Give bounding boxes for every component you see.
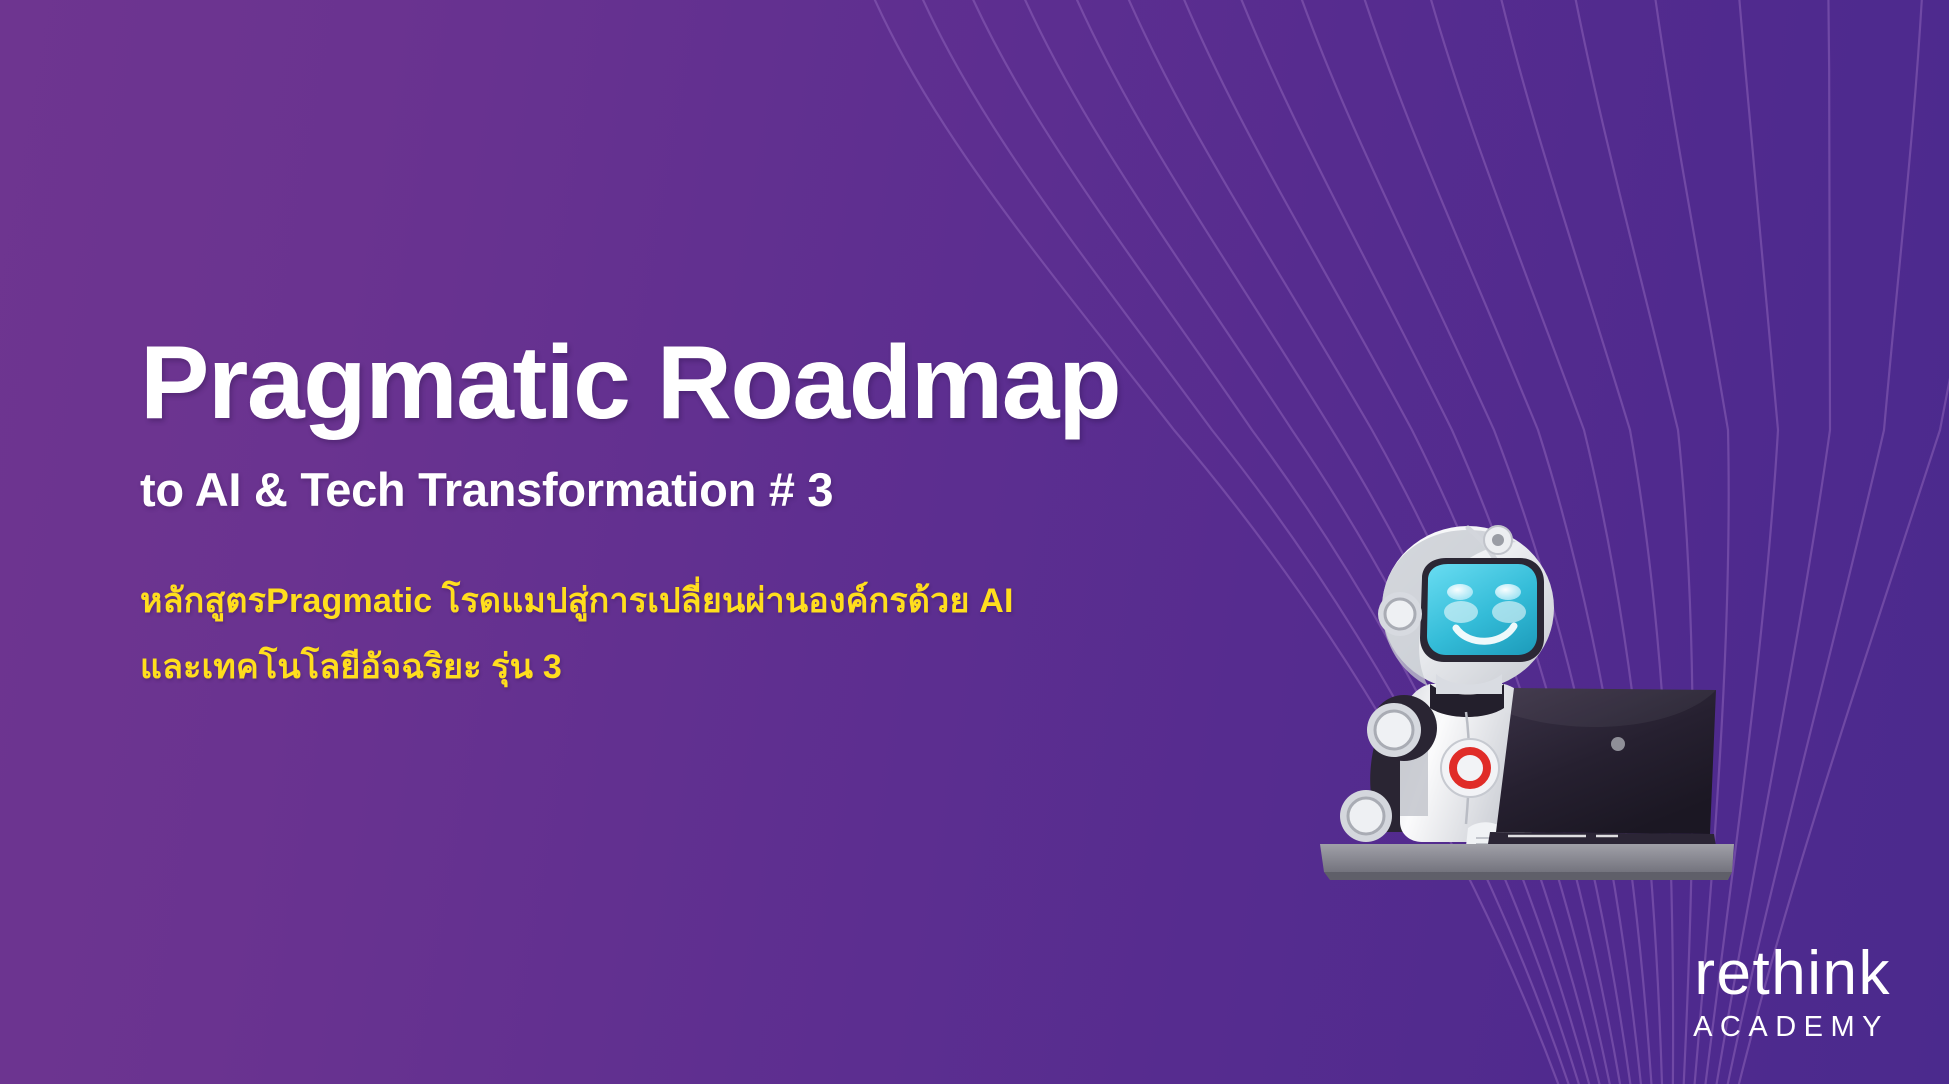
thai-description-block: หลักสูตรPragmatic โรดแมปสู่การเปลี่ยนผ่า… <box>140 568 1200 701</box>
headline-block: Pragmatic Roadmap to AI & Tech Transform… <box>140 330 1200 700</box>
logo-tagline: ACADEMY <box>1693 1013 1891 1042</box>
robot-mascot-illustration <box>1318 516 1738 896</box>
thai-line1-prefix: หลักสูตร <box>140 582 266 620</box>
laptop <box>1488 688 1716 846</box>
thai-description-line-2: และเทคโนโลยีอัจฉริยะ รุ่น 3 <box>140 634 1200 700</box>
thai-line1-latin-word: Pragmatic <box>266 582 432 620</box>
page-title: Pragmatic Roadmap <box>140 330 1200 436</box>
thai-line1-rest: โรดแมปสู่การเปลี่ยนผ่านองค์กรด้วย AI <box>432 582 1013 620</box>
brand-logo[interactable]: rethink ACADEMY <box>1693 943 1891 1042</box>
slide-canvas: Pragmatic Roadmap to AI & Tech Transform… <box>0 0 1949 1084</box>
desk <box>1320 844 1734 880</box>
logo-wordmark: rethink <box>1693 943 1891 1005</box>
page-subtitle: to AI & Tech Transformation # 3 <box>140 464 1200 516</box>
thai-description-line-1: หลักสูตรPragmatic โรดแมปสู่การเปลี่ยนผ่า… <box>140 568 1200 634</box>
robot-head <box>1378 526 1554 694</box>
